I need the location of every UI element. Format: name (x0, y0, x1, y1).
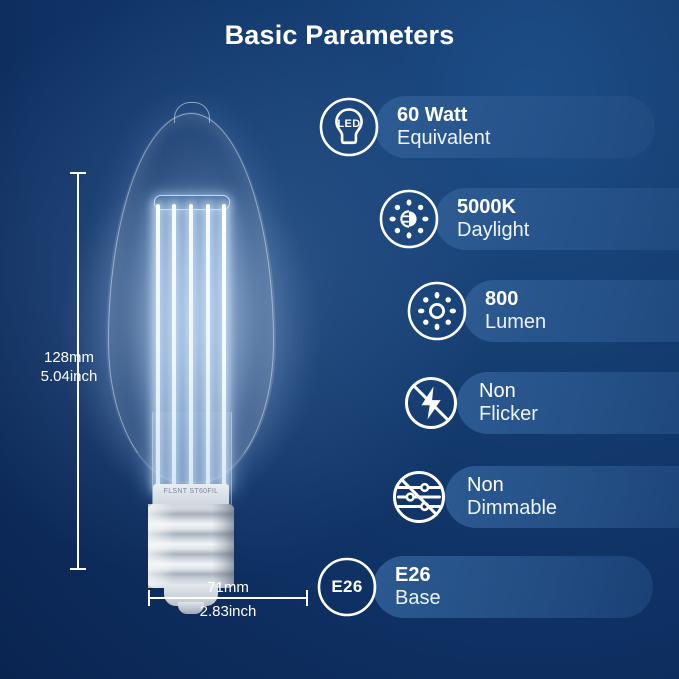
infographic-canvas: Basic Parameters FLSNT ST60FIL 128mm 5.0… (0, 0, 679, 679)
spec-row-wattage: LED 60 Watt Equivalent (318, 96, 655, 158)
spec-value-base: E26 (395, 564, 627, 587)
spec-row-flicker: Non Flicker (400, 372, 679, 434)
filament-strip (206, 204, 210, 490)
spec-pill-base: E26 Base (373, 556, 653, 618)
dimension-cap-top (70, 172, 86, 174)
page-title: Basic Parameters (0, 20, 679, 51)
daylight-sun-icon (378, 188, 440, 250)
spec-row-lumen: 800 Lumen (406, 280, 679, 342)
height-dimension-label: 128mm 5.04inch (8, 348, 130, 386)
height-mm: 128mm (8, 348, 130, 367)
height-inch: 5.04inch (8, 367, 130, 386)
spec-caption-base: Base (395, 587, 627, 610)
led-icon-label: LED (318, 93, 380, 155)
spec-row-dimmable: Non Dimmable (388, 466, 679, 528)
spec-value-lumen: 800 (485, 288, 679, 311)
spec-caption-flicker: Flicker (479, 403, 679, 426)
base-collar-text: FLSNT ST60FIL (153, 488, 229, 495)
spec-pill-wattage: 60 Watt Equivalent (375, 96, 655, 158)
spec-value-wattage: 60 Watt (397, 104, 629, 127)
spec-value-dimmable: Non (467, 474, 679, 497)
width-mm: 71mm (148, 578, 308, 597)
spec-pill-lumen: 800 Lumen (463, 280, 679, 342)
e26-screw-threads (148, 504, 234, 588)
spec-pill-flicker: Non Flicker (457, 372, 679, 434)
filament-strip (222, 204, 226, 490)
lumen-sun-icon (406, 280, 468, 342)
filament-strip (189, 204, 193, 490)
bulb-top-tip (174, 102, 210, 123)
led-bulb-icon: LED (318, 96, 380, 158)
width-inch: 2.83inch (148, 602, 308, 621)
spec-pill-color-temperature: 5000K Daylight (435, 188, 679, 250)
no-flicker-icon (400, 372, 462, 434)
led-filament-group (154, 204, 228, 490)
filament-strip (172, 204, 176, 490)
bulb-base-collar: FLSNT ST60FIL (153, 484, 229, 506)
product-bulb-image: FLSNT ST60FIL (96, 112, 286, 582)
spec-row-base: E26 E26 Base (316, 556, 653, 618)
spec-value-flicker: Non (479, 380, 679, 403)
spec-row-color-temperature: 5000K Daylight (378, 188, 679, 250)
no-dimmer-icon (388, 466, 450, 528)
filament-strip (156, 204, 160, 490)
spec-caption-dimmable: Dimmable (467, 497, 679, 520)
spec-caption-color-temperature: Daylight (457, 219, 679, 242)
e26-base-icon: E26 (316, 556, 378, 618)
e26-icon-label: E26 (316, 556, 378, 618)
spec-pill-dimmable: Non Dimmable (445, 466, 679, 528)
width-dimension-label: 71mm 2.83inch (148, 578, 308, 616)
dimension-cap-bottom (70, 568, 86, 570)
spec-value-color-temperature: 5000K (457, 196, 679, 219)
spec-caption-wattage: Equivalent (397, 127, 629, 150)
spec-caption-lumen: Lumen (485, 311, 679, 334)
